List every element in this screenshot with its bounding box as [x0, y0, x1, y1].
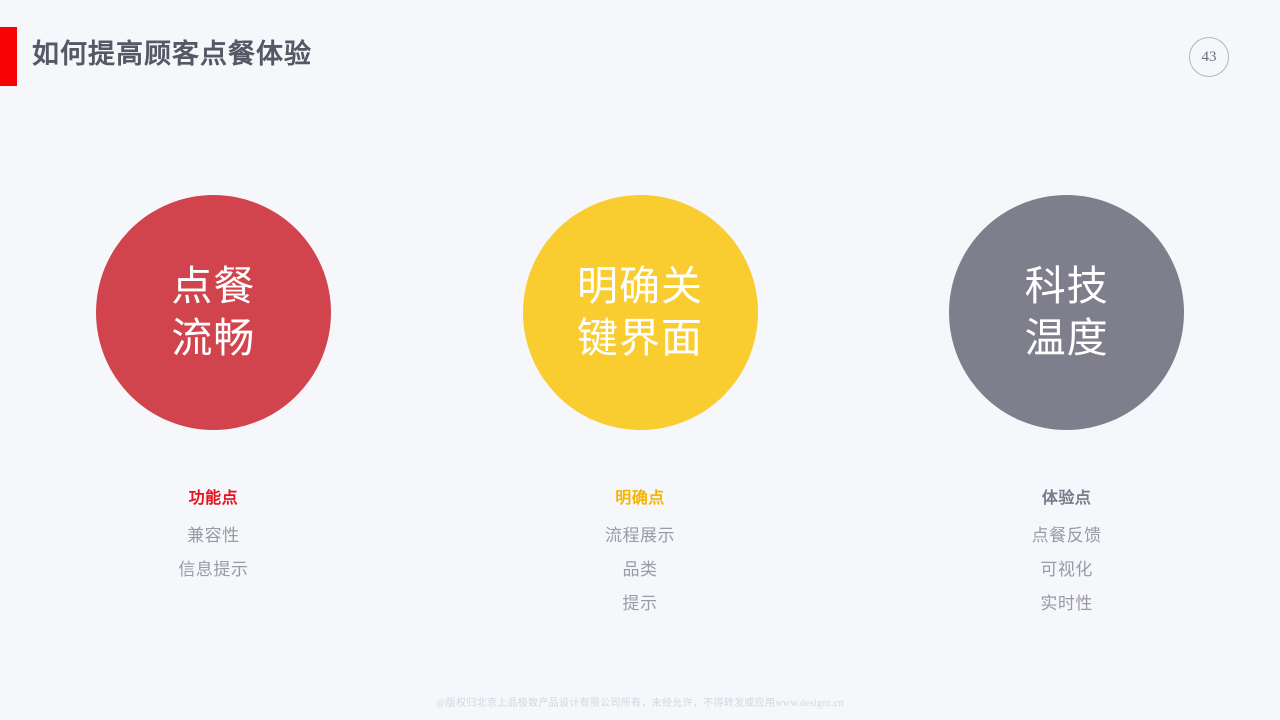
- caption-item: 提示: [623, 595, 658, 612]
- page-title: 如何提高顾客点餐体验: [32, 38, 312, 70]
- concept-column-functional: 点餐 流畅 功能点 兼容性 信息提示: [0, 195, 427, 625]
- caption-item: 兼容性: [187, 527, 240, 544]
- caption-block: 明确点 流程展示 品类 提示: [605, 491, 675, 612]
- footer-copyright: @版权归北京上品极致产品设计有限公司所有，未经允许，不得转发或应用www.des…: [0, 694, 1280, 709]
- caption-block: 功能点 兼容性 信息提示: [178, 491, 248, 578]
- caption-item: 信息提示: [178, 561, 248, 578]
- bubble-line: 明确关: [577, 261, 703, 313]
- bubble-line: 键界面: [577, 313, 703, 365]
- caption-block: 体验点 点餐反馈 可视化 实时性: [1032, 491, 1102, 612]
- concept-column-clarity: 明确关 键界面 明确点 流程展示 品类 提示: [427, 195, 854, 625]
- page-number-label: 43: [1202, 49, 1217, 66]
- slide-header: 如何提高顾客点餐体验 43: [0, 0, 1280, 95]
- caption-item: 品类: [623, 561, 658, 578]
- bubble-line: 点餐: [171, 261, 255, 313]
- caption-item: 可视化: [1040, 561, 1093, 578]
- caption-title: 功能点: [189, 491, 239, 507]
- page-number-badge: 43: [1189, 37, 1229, 77]
- bubble-line: 流畅: [171, 313, 255, 365]
- concept-column-experience: 科技 温度 体验点 点餐反馈 可视化 实时性: [853, 195, 1280, 625]
- bubble-line: 温度: [1025, 313, 1109, 365]
- title-accent-bar: [0, 27, 17, 86]
- concept-bubble-gray[interactable]: 科技 温度: [949, 195, 1184, 430]
- concept-bubble-red[interactable]: 点餐 流畅: [96, 195, 331, 430]
- caption-item: 流程展示: [605, 527, 675, 544]
- caption-title: 明确点: [615, 491, 665, 507]
- bubble-line: 科技: [1025, 261, 1109, 313]
- concept-columns: 点餐 流畅 功能点 兼容性 信息提示 明确关 键界面 明确点 流程展示 品类 提…: [0, 195, 1280, 625]
- caption-item: 实时性: [1040, 595, 1093, 612]
- concept-bubble-yellow[interactable]: 明确关 键界面: [523, 195, 758, 430]
- caption-title: 体验点: [1042, 491, 1092, 507]
- caption-item: 点餐反馈: [1032, 527, 1102, 544]
